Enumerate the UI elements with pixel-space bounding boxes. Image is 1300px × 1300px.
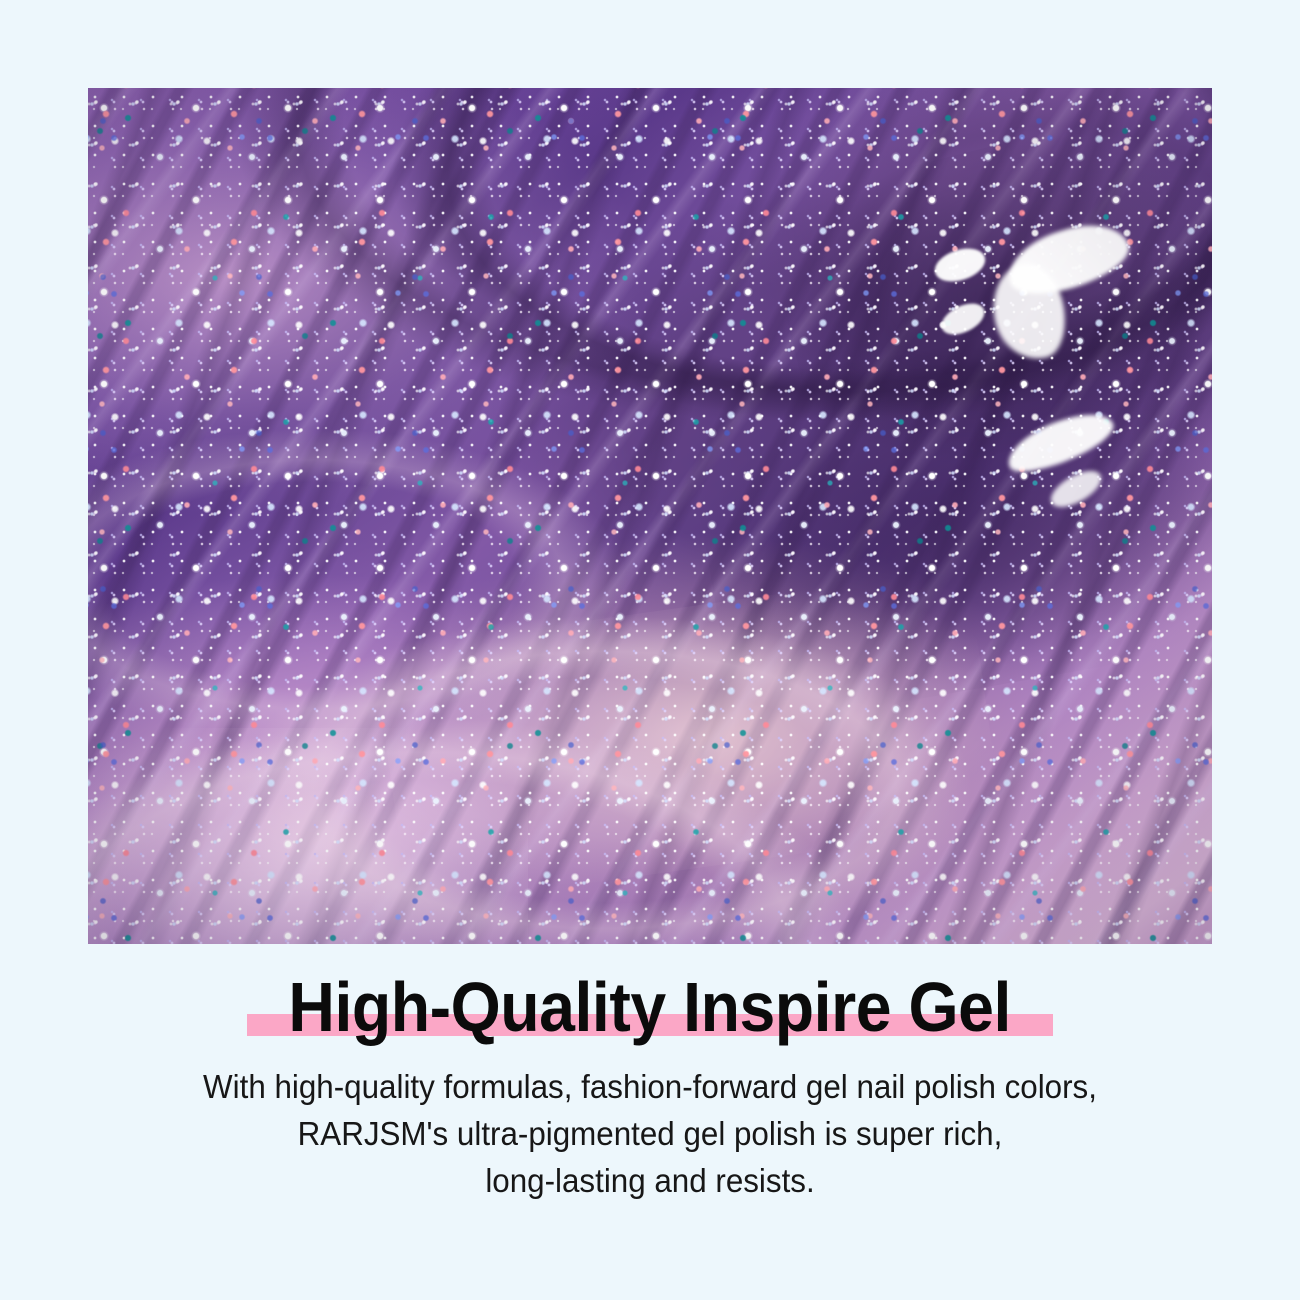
description-line-1: With high-quality formulas, fashion-forw… [33,1063,1268,1110]
caption-block: High-Quality Inspire Gel With high-quali… [0,965,1300,1204]
description-line-3: long-lasting and resists. [33,1157,1268,1204]
blue-fleck-layer [88,88,1212,944]
glitter-gel-polish-swatch-photo [88,88,1212,944]
product-feature-page: High-Quality Inspire Gel With high-quali… [0,0,1300,1300]
description-line-2: RARJSM's ultra-pigmented gel polish is s… [33,1110,1268,1157]
page-title-text: High-Quality Inspire Gel [289,965,1012,1049]
page-title: High-Quality Inspire Gel [247,965,1052,1049]
product-description: With high-quality formulas, fashion-forw… [0,1063,1300,1204]
